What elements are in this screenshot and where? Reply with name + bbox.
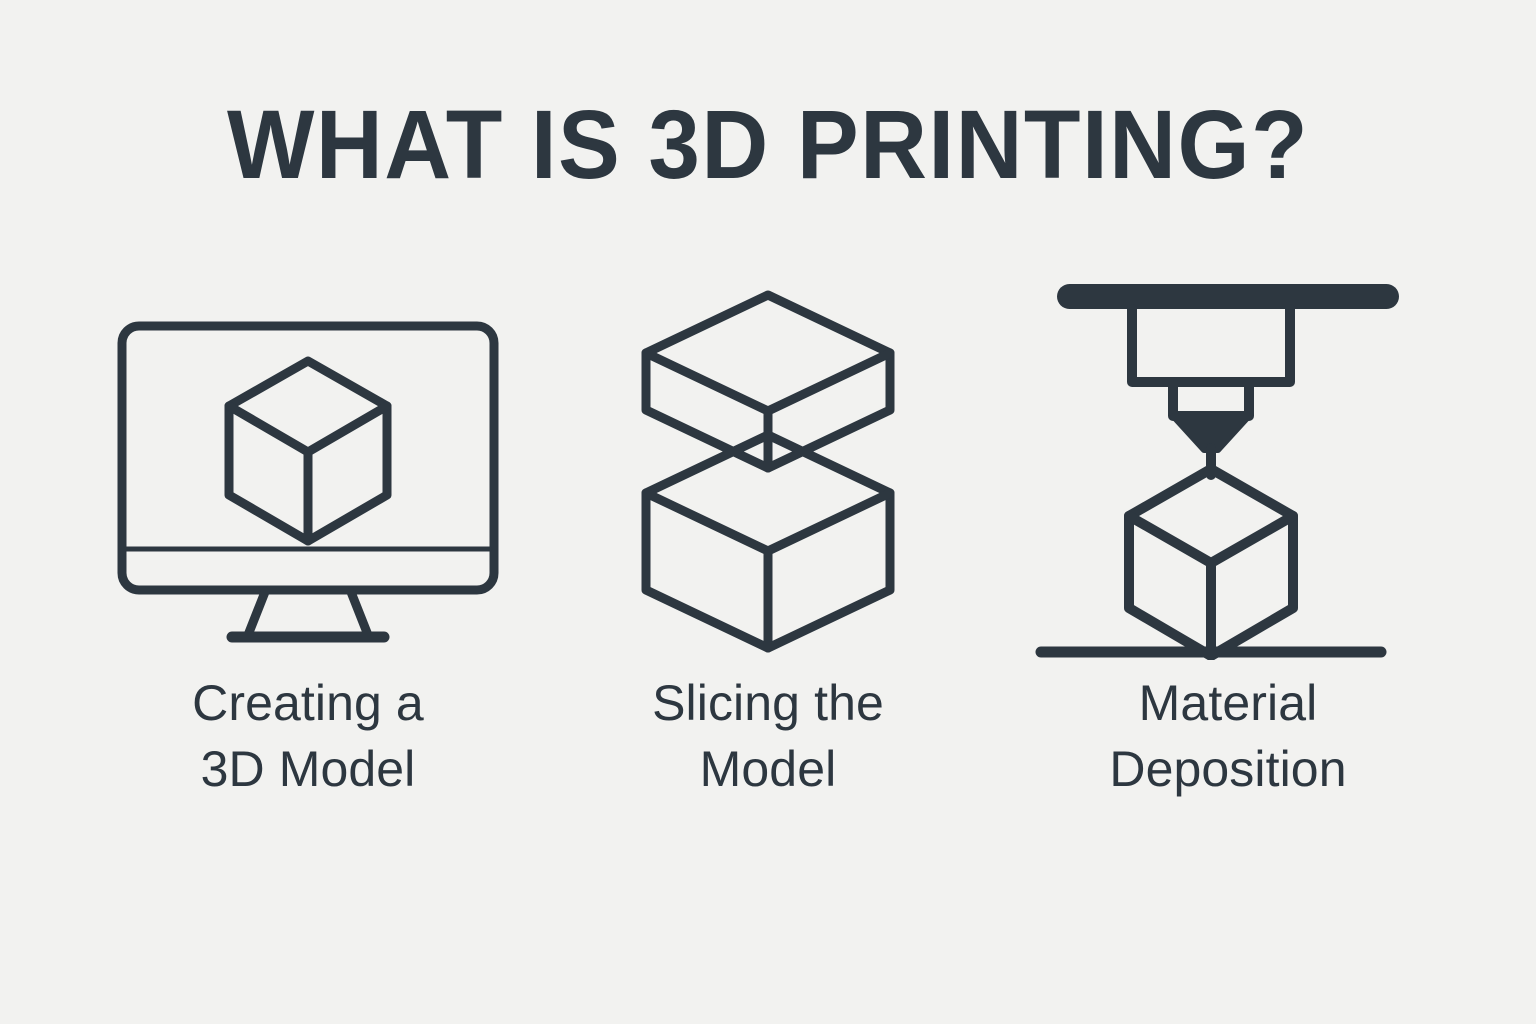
step-card-creating-3d-model: Creating a 3D Model	[78, 270, 538, 802]
step-card-slicing-model: Slicing the Model	[538, 270, 998, 802]
monitor-cube-icon	[108, 270, 508, 670]
step-label-creating-3d-model: Creating a 3D Model	[192, 670, 424, 802]
step-card-material-deposition: Material Deposition	[998, 270, 1458, 802]
steps-row: Creating a 3D Model	[0, 270, 1536, 830]
sliced-layers-icon	[568, 270, 968, 670]
page-title: WHAT IS 3D PRINTING?	[35, 96, 1502, 193]
step-label-material-deposition: Material Deposition	[1109, 670, 1346, 802]
extruder-nozzle-cube-icon	[1028, 270, 1428, 670]
infographic-canvas: WHAT IS 3D PRINTING?	[0, 0, 1536, 1024]
step-label-slicing-model: Slicing the Model	[652, 670, 884, 802]
